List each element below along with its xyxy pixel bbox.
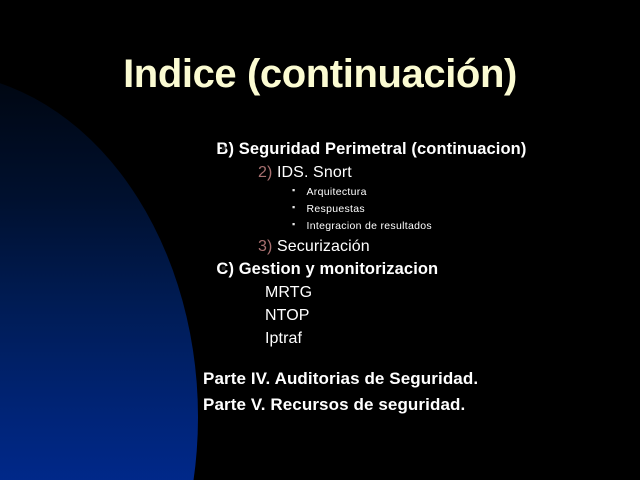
- ids-number: 2): [258, 164, 272, 181]
- outline-item-parte-iv: Parte IV. Auditorias de Seguridad.: [0, 366, 640, 392]
- vertical-spacer: [0, 350, 640, 366]
- outline-item-ntop: NTOP: [0, 304, 640, 327]
- outline-item-section-c: ▪C) Gestion y monitorizacion: [0, 258, 640, 281]
- square-bullet-icon: ▪: [292, 219, 296, 229]
- subitem-label: Integracion de resultados: [307, 220, 432, 232]
- subitem-label: Arquitectura: [307, 186, 367, 198]
- outline-item-section-b: ▪B) Seguridad Perimetral (continuacion): [0, 138, 640, 161]
- ids-label: IDS. Snort: [272, 164, 351, 181]
- outline-subitem-arquitectura: ▪Arquitectura: [0, 184, 640, 201]
- outline-subitem-respuestas: ▪Respuestas: [0, 201, 640, 218]
- securizacion-number: 3): [258, 238, 272, 255]
- outline-item-mrtg: MRTG: [0, 281, 640, 304]
- slide-body: ▪B) Seguridad Perimetral (continuacion) …: [0, 138, 640, 418]
- outline-item-securizacion: 3) Securización: [0, 235, 640, 258]
- square-bullet-icon: ▪: [221, 140, 226, 157]
- square-bullet-icon: ▪: [292, 185, 296, 195]
- square-bullet-icon: ▪: [221, 260, 226, 277]
- section-b-label: Seguridad Perimetral (continuacion): [239, 140, 527, 158]
- square-bullet-icon: ▪: [292, 202, 296, 212]
- securizacion-label: Securización: [272, 238, 369, 255]
- subitem-label: Respuestas: [307, 203, 365, 215]
- outline-item-iptraf: Iptraf: [0, 327, 640, 350]
- slide-title: Indice (continuación): [0, 52, 640, 97]
- outline-subitem-integracion: ▪Integracion de resultados: [0, 218, 640, 235]
- presentation-slide: Indice (continuación) ▪B) Seguridad Peri…: [0, 0, 640, 480]
- outline-item-parte-v: Parte V. Recursos de seguridad.: [0, 392, 640, 418]
- outline-item-ids: 2) IDS. Snort: [0, 161, 640, 184]
- section-c-label: Gestion y monitorizacion: [239, 260, 439, 278]
